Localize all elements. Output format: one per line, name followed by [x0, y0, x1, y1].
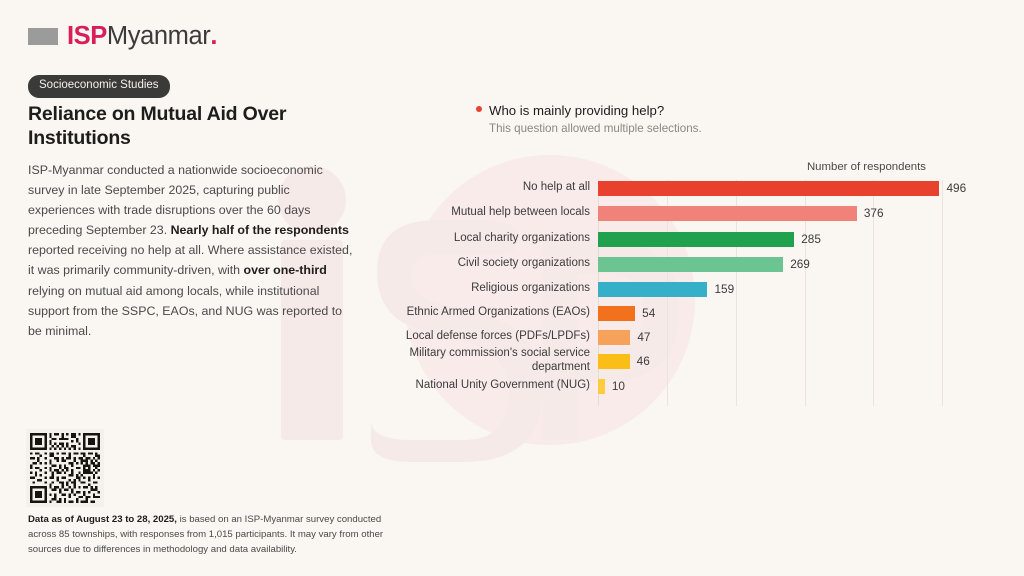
chart-question-block: Who is mainly providing help? This quest… — [476, 103, 702, 135]
bar-value-label: 269 — [790, 257, 810, 271]
bar[interactable] — [598, 181, 939, 196]
bar-category-label: Religious organizations — [402, 282, 598, 296]
qr-code-image — [30, 433, 100, 503]
bar-row[interactable]: Local charity organizations285 — [598, 232, 956, 247]
bar-row[interactable]: No help at all496 — [598, 181, 956, 196]
logo-myanmar-text: Myanmar — [107, 22, 210, 50]
logo-isp-text: ISP — [67, 22, 107, 50]
bar[interactable] — [598, 354, 630, 369]
plot-area: No help at all496Mutual help between loc… — [598, 184, 956, 404]
bar-row[interactable]: Ethnic Armed Organizations (EAOs)54 — [598, 306, 956, 321]
bar-category-label: Mutual help between locals — [402, 206, 598, 220]
bar[interactable] — [598, 330, 630, 345]
bar-row[interactable]: Civil society organizations269 — [598, 257, 956, 272]
bar-row[interactable]: Religious organizations159 — [598, 282, 956, 297]
bar-value-label: 46 — [637, 354, 650, 368]
bar-chart: No help at all496Mutual help between loc… — [396, 184, 956, 404]
bar[interactable] — [598, 282, 707, 297]
bar-value-label: 54 — [642, 306, 655, 320]
bar-category-label: Civil society organizations — [402, 257, 598, 271]
bar-value-label: 376 — [864, 206, 884, 220]
logo-wordmark: ISPMyanmar. — [67, 24, 217, 50]
bar-category-label: Ethnic Armed Organizations (EAOs) — [402, 306, 598, 320]
bar[interactable] — [598, 379, 605, 394]
page-title: Reliance on Mutual Aid Over Institutions — [28, 103, 328, 151]
logo-square-icon — [28, 28, 58, 45]
bar-row[interactable]: Military commission's social service dep… — [598, 354, 956, 369]
footnote: Data as of August 23 to 28, 2025, is bas… — [28, 513, 400, 558]
category-badge: Socioeconomic Studies — [28, 75, 170, 98]
chart-question-subtitle: This question allowed multiple selection… — [489, 122, 702, 135]
bar-row[interactable]: Local defense forces (PDFs/LPDFs)47 — [598, 330, 956, 345]
brand-logo: ISPMyanmar. — [28, 24, 217, 50]
bar-value-label: 285 — [801, 232, 821, 246]
infographic-canvas: ISPMyanmar. Socioeconomic Studies Relian… — [0, 0, 1024, 576]
bar[interactable] — [598, 206, 857, 221]
x-axis-title: Number of respondents — [807, 161, 926, 173]
chart-question-title: Who is mainly providing help? — [489, 103, 664, 118]
bar-category-label: Local charity organizations — [402, 232, 598, 246]
chart-question-row: Who is mainly providing help? — [476, 103, 702, 118]
bar-value-label: 47 — [637, 330, 650, 344]
bar-row[interactable]: Mutual help between locals376 — [598, 206, 956, 221]
bar-category-label: Local defense forces (PDFs/LPDFs) — [402, 330, 598, 344]
bar[interactable] — [598, 257, 783, 272]
bar[interactable] — [598, 232, 794, 247]
bar-value-label: 496 — [946, 181, 966, 195]
bar-category-label: National Unity Government (NUG) — [402, 379, 598, 393]
bar-value-label: 159 — [714, 282, 734, 296]
bar-row[interactable]: National Unity Government (NUG)10 — [598, 379, 956, 394]
bar-category-label: No help at all — [402, 181, 598, 195]
logo-dot: . — [210, 22, 217, 50]
bullet-dot-icon — [476, 106, 482, 112]
bar-value-label: 10 — [612, 379, 625, 393]
qr-code[interactable] — [26, 429, 104, 507]
bar-category-label: Military commission's social service dep… — [402, 347, 598, 374]
bar[interactable] — [598, 306, 635, 321]
body-paragraph: ISP-Myanmar conducted a nationwide socio… — [28, 160, 358, 341]
